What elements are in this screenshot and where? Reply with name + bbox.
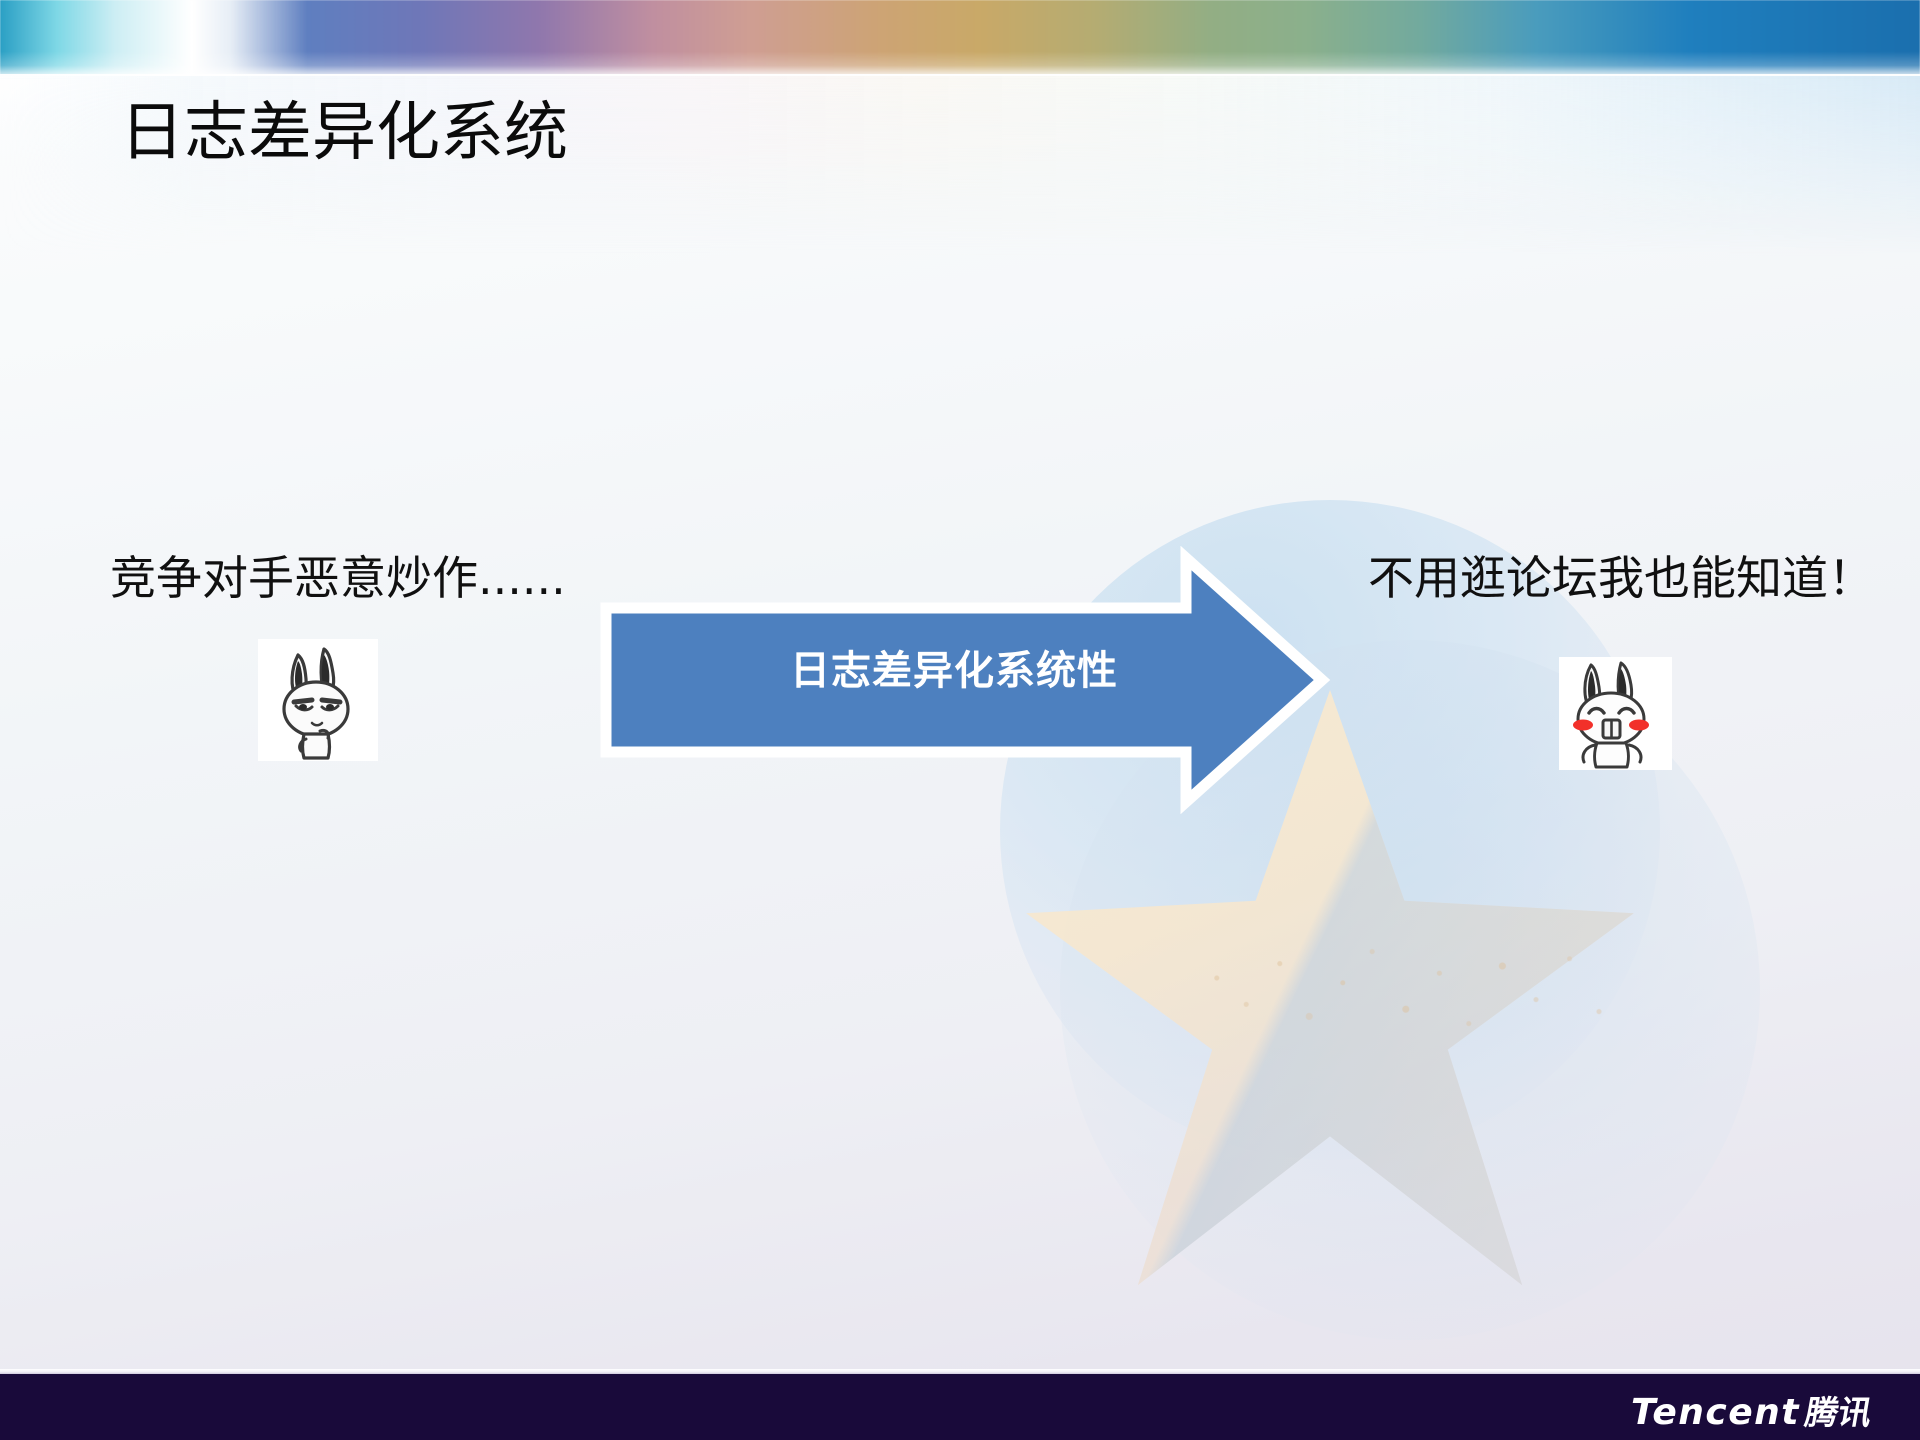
process-arrow: 日志差异化系统性: [594, 546, 1334, 814]
background-sparkle-specks: [1200, 930, 1620, 1050]
tencent-logo-cn: 腾讯: [1802, 1386, 1876, 1434]
grumpy-rabbit-sticker: [258, 639, 378, 761]
happy-rabbit-sticker: [1559, 657, 1672, 770]
slide-canvas: 日志差异化系统 竞争对手恶意炒作...... 不用逛论坛我也能知道！: [0, 0, 1920, 1440]
happy-rabbit-icon: [1559, 657, 1672, 770]
top-color-banner: [0, 0, 1920, 78]
grumpy-rabbit-icon: [258, 639, 378, 761]
page-title: 日志差异化系统: [120, 98, 568, 168]
tencent-logo-en: Tencent: [1631, 1392, 1800, 1433]
arrow-label: 日志差异化系统性: [744, 638, 1164, 696]
tencent-logo: Tencent 腾讯: [1631, 1386, 1872, 1434]
right-caption: 不用逛论坛我也能知道！: [1368, 552, 1874, 605]
left-caption: 竞争对手恶意炒作......: [110, 552, 566, 605]
